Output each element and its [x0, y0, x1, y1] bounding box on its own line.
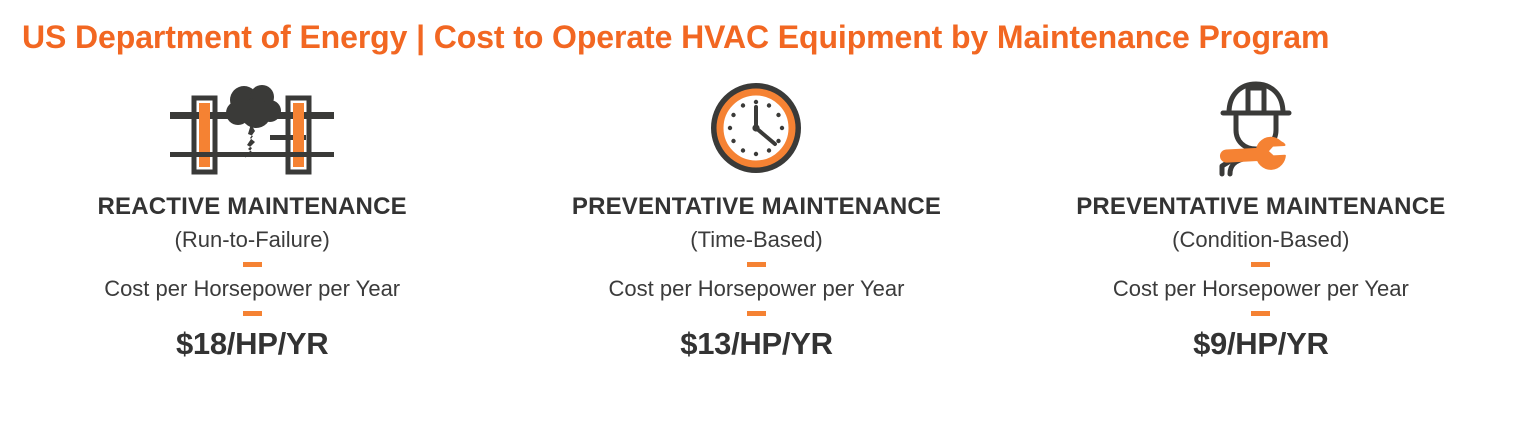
program-card-preventative-condition-based: PREVENTATIVE MAINTENANCE (Condition-Base… — [1009, 72, 1513, 417]
program-heading: PREVENTATIVE MAINTENANCE — [1076, 194, 1445, 221]
broken-pipe-steam-icon — [166, 72, 338, 184]
clock-icon — [710, 72, 802, 184]
metric-label: Cost per Horsepower per Year — [609, 276, 905, 301]
program-subheading: (Run-to-Failure) — [175, 227, 330, 252]
metric-value: $13/HP/YR — [680, 327, 832, 361]
metric-value: $9/HP/YR — [1193, 327, 1328, 361]
divider-dash — [243, 311, 262, 316]
worker-hardhat-wrench-icon — [1208, 72, 1314, 184]
maintenance-program-columns: REACTIVE MAINTENANCE (Run-to-Failure) Co… — [0, 72, 1513, 417]
program-heading: REACTIVE MAINTENANCE — [97, 194, 406, 221]
page-title: US Department of Energy | Cost to Operat… — [22, 16, 1493, 58]
divider-dash — [1251, 262, 1270, 267]
program-subheading: (Condition-Based) — [1172, 227, 1349, 252]
page-title-text: US Department of Energy | Cost to Operat… — [22, 21, 1329, 53]
program-card-reactive-maintenance: REACTIVE MAINTENANCE (Run-to-Failure) Co… — [0, 72, 504, 417]
program-heading: PREVENTATIVE MAINTENANCE — [572, 194, 941, 221]
divider-dash — [747, 311, 766, 316]
divider-dash — [243, 262, 262, 267]
metric-value: $18/HP/YR — [176, 327, 328, 361]
metric-label: Cost per Horsepower per Year — [104, 276, 400, 301]
program-card-preventative-time-based: PREVENTATIVE MAINTENANCE (Time-Based) Co… — [504, 72, 1008, 417]
program-subheading: (Time-Based) — [690, 227, 822, 252]
divider-dash — [1251, 311, 1270, 316]
infographic-page: US Department of Energy | Cost to Operat… — [0, 0, 1513, 430]
divider-dash — [747, 262, 766, 267]
metric-label: Cost per Horsepower per Year — [1113, 276, 1409, 301]
